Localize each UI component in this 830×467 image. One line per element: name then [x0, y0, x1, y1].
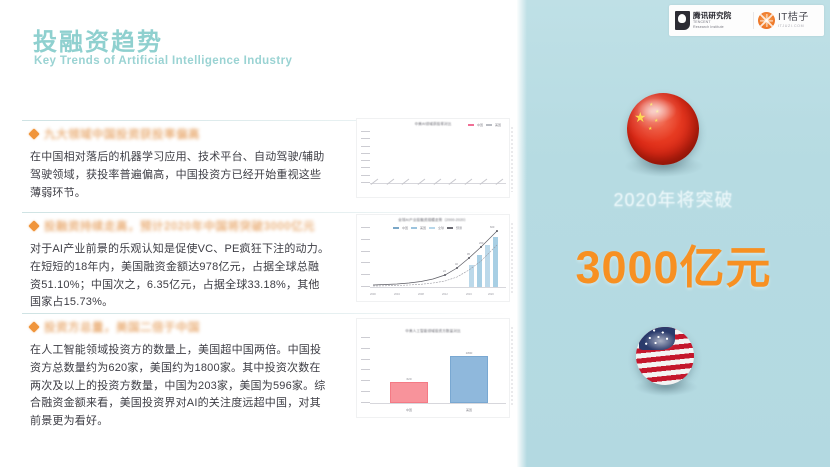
itjuzi-logo-text: IT桔子 ITJUZI.COM	[778, 13, 809, 29]
highlight-caption: 2020年将突破	[517, 186, 830, 212]
china-star-small-4-icon: ★	[648, 127, 652, 132]
bar-usa-value: 1800	[451, 351, 487, 355]
block-1-body: 在中国相对落后的机器学习应用、技术平台、自动驾驶/辅助驾驶领域，获投率普遍偏高，…	[22, 149, 330, 202]
block-3-chart: 中美人工智能领域投资方数量对比 620 中国 1800 美国	[356, 318, 510, 418]
itjuzi-logo-cn: IT桔子	[778, 13, 809, 23]
block-2-line-plot: 2240 95260600 200020042008 201220162020	[357, 215, 509, 301]
diamond-bullet-icon	[28, 220, 39, 231]
block-1-chart-legend: 中国 美国	[468, 123, 501, 127]
block-3-chart-title: 中美人工智能领域投资方数量对比	[357, 329, 509, 334]
slide: 腾讯研究院 TENCENT Research Institute IT桔子 IT…	[0, 0, 830, 467]
china-star-small-3-icon: ★	[654, 119, 658, 124]
block-1-bars	[371, 133, 505, 183]
page-title-cn: 投融资趋势	[33, 22, 163, 57]
legend-label-us: 美国	[495, 123, 501, 127]
tencent-logo-cn: 腾讯研究院	[693, 12, 732, 20]
usa-canton-stars	[639, 327, 675, 350]
block-divider	[22, 212, 508, 213]
bar-usa-label: 美国	[451, 408, 487, 412]
orange-slice-spokes-icon	[758, 12, 775, 29]
bar-china-value: 620	[391, 377, 427, 381]
block-3-baseline	[370, 403, 506, 404]
legend-label-cn: 中国	[477, 123, 483, 127]
china-flag-globe-icon: ★ ★ ★ ★ ★	[627, 93, 699, 165]
svg-text:2000: 2000	[370, 292, 376, 296]
block-2-chart: 全球AI产业投融资规模走势（2000-2020） 中国 美国 全球 预测	[356, 214, 510, 302]
itjuzi-logo-en: ITJUZI.COM	[778, 25, 809, 29]
orange-slice-icon	[758, 12, 775, 29]
svg-text:2020: 2020	[488, 292, 494, 296]
logo-bar: 腾讯研究院 TENCENT Research Institute IT桔子 IT…	[669, 5, 824, 36]
block-3-y-axis	[359, 337, 370, 403]
block-1-heading: 九大领域中国投资获投率偏高	[44, 126, 200, 142]
tencent-logo-en2: Research Institute	[693, 26, 732, 30]
tencent-logo-text: 腾讯研究院 TENCENT Research Institute	[693, 12, 732, 30]
block-3-dot-texture	[510, 326, 515, 406]
svg-text:22: 22	[443, 269, 446, 273]
svg-text:600: 600	[490, 225, 495, 229]
svg-text:2008: 2008	[418, 292, 424, 296]
svg-text:2004: 2004	[394, 292, 400, 296]
block-2-heading: 投融资持续走高，预计2020年中国将突破3000亿元	[44, 218, 315, 234]
svg-text:95: 95	[467, 252, 470, 256]
block-1-chart: 中美AI领域获投率对比 中国 美国	[356, 118, 510, 198]
block-3-body: 在人工智能领域投资方的数量上，美国超中国两倍。中国投资方总数量约为620家，美国…	[22, 342, 330, 431]
bar-china: 620 中国	[390, 382, 428, 403]
block-3-heading: 投资方总量，美国二倍于中国	[44, 319, 200, 335]
block-1-plot	[371, 133, 505, 183]
svg-text:260: 260	[479, 241, 484, 245]
svg-text:40: 40	[455, 262, 458, 266]
page-title-en: Key Trends of Artificial Intelligence In…	[34, 55, 292, 67]
svg-text:2012: 2012	[442, 292, 448, 296]
block-1-dot-texture	[510, 126, 515, 192]
tencent-mark-icon	[675, 11, 690, 30]
diamond-bullet-icon	[28, 128, 39, 139]
legend-swatch-us	[486, 124, 492, 126]
bar-china-label: 中国	[391, 408, 427, 412]
block-1-y-axis	[359, 131, 370, 183]
block-1-x-labels	[371, 184, 505, 195]
china-star-large-icon: ★	[634, 110, 647, 124]
bar-usa: 1800 美国	[450, 356, 488, 403]
tencent-research-logo: 腾讯研究院 TENCENT Research Institute	[669, 11, 749, 30]
diamond-bullet-icon	[28, 321, 39, 332]
legend-swatch-cn	[468, 124, 474, 126]
block-2-body: 对于AI产业前景的乐观认知是促使VC、PE疯狂下注的动力。在短短的18年内，美国…	[22, 241, 330, 312]
itjuzi-logo: IT桔子 ITJUZI.COM	[758, 12, 809, 29]
china-star-small-1-icon: ★	[649, 103, 653, 108]
svg-text:2016: 2016	[466, 292, 472, 296]
highlight-number: 3000亿元	[517, 231, 830, 296]
usa-flag-globe-icon	[636, 327, 694, 385]
block-2-dot-texture	[510, 222, 515, 294]
logo-divider	[753, 12, 754, 29]
block-divider	[22, 313, 508, 314]
block-3-bars: 620 中国 1800 美国	[379, 341, 499, 403]
china-star-small-2-icon: ★	[655, 110, 659, 115]
